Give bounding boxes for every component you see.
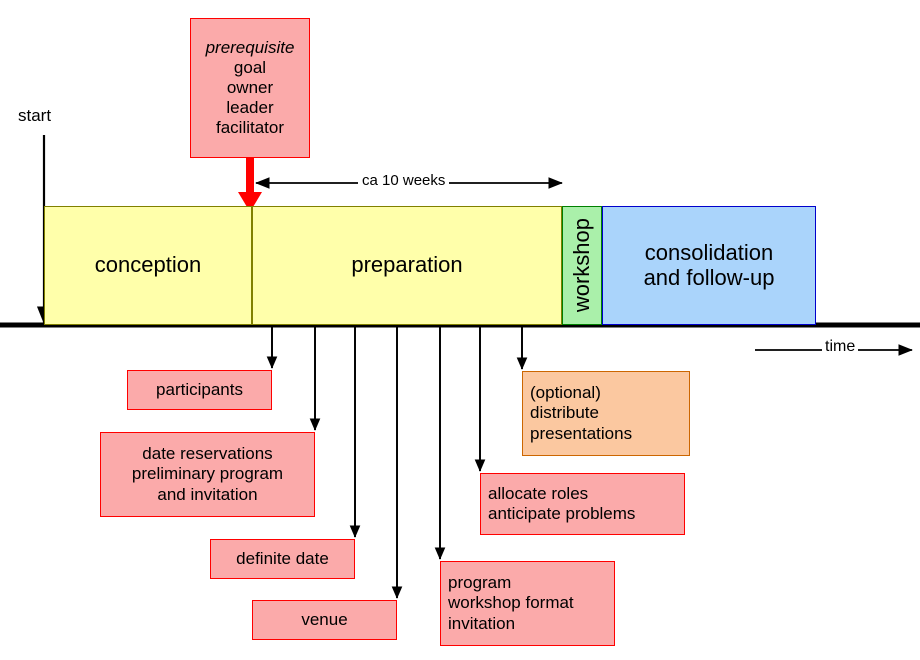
prerequisite-item-owner: owner (227, 78, 273, 98)
prerequisite-item-facilitator: facilitator (216, 118, 284, 138)
prerequisite-item-leader: leader (226, 98, 273, 118)
time-axis-label: time (822, 338, 858, 356)
note-program-workshop-format-invitation[interactable]: program workshop format invitation (440, 561, 615, 646)
prerequisite-heading: prerequisite (206, 38, 295, 58)
phase-conception[interactable]: conception (44, 206, 252, 325)
note-distribute-presentations[interactable]: (optional) distribute presentations (522, 371, 690, 456)
note-definite-date[interactable]: definite date (210, 539, 355, 579)
note-participants[interactable]: participants (127, 370, 272, 410)
duration-label: ca 10 weeks (358, 172, 449, 189)
timeline-diagram: prerequisite goal owner leader facilitat… (0, 0, 920, 660)
phase-preparation[interactable]: preparation (252, 206, 562, 325)
start-label: start (18, 106, 51, 126)
note-allocate-roles[interactable]: allocate roles anticipate problems (480, 473, 685, 535)
prerequisite-item-goal: goal (234, 58, 266, 78)
phase-label-consolidation-and-follow-up: consolidation and follow-up (644, 241, 775, 290)
note-venue[interactable]: venue (252, 600, 397, 640)
note-date-reservations[interactable]: date reservations preliminary program an… (100, 432, 315, 517)
phase-label-workshop: workshop (570, 218, 595, 312)
prerequisite-callout[interactable]: prerequisite goal owner leader facilitat… (190, 18, 310, 158)
phase-label-conception: conception (95, 253, 201, 278)
phase-label-preparation: preparation (351, 253, 462, 278)
phase-workshop[interactable]: workshop (562, 206, 602, 325)
phase-consolidation-and-follow-up[interactable]: consolidation and follow-up (602, 206, 816, 325)
